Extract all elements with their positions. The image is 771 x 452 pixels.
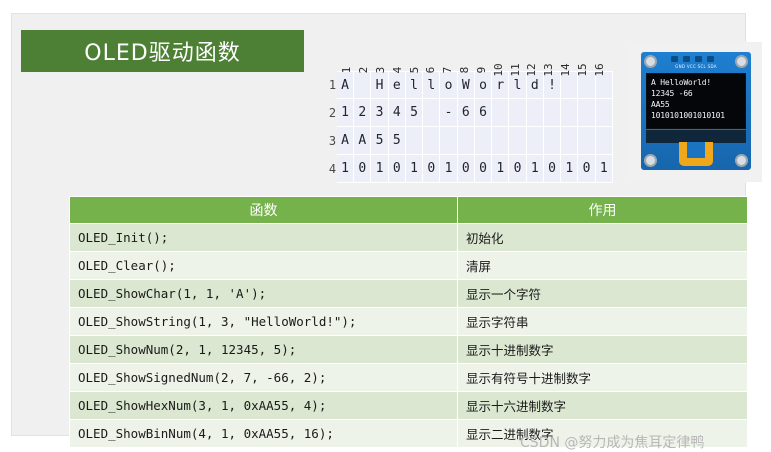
grid-cell [475,127,492,155]
grid-column-header-label: 6 [425,67,436,74]
grid-cell: 6 [475,99,492,127]
grid-cell [440,127,457,155]
grid-cell [596,127,613,155]
table-row: OLED_ShowChar(1, 1, 'A');显示一个字符 [70,280,748,308]
grid-cell: 1 [527,155,544,183]
grid-cell: l [406,71,423,99]
grid-cell [527,99,544,127]
grid-column-header-label: 12 [526,63,537,76]
page-title: OLED驱动函数 [84,35,240,67]
oled-screen-line: 1010101001010101 [651,110,741,121]
grid-cell: 2 [354,99,371,127]
grid-cell: 5 [371,127,388,155]
oled-screen: A HelloWorld! 12345 -66 AA55 10101010010… [646,73,746,129]
grid-cell: A [354,127,371,155]
grid-row: 3AA55 [328,127,613,155]
grid-cell: 0 [458,155,475,183]
grid-cell: 3 [371,99,388,127]
grid-cell: 0 [354,155,371,183]
smd-component-icon [671,56,678,62]
grid-cell: 1 [337,99,354,127]
table-row: OLED_Init();初始化 [70,224,748,252]
grid-cell: o [440,71,457,99]
grid-cell [509,99,526,127]
grid-column-header-label: 5 [409,67,420,74]
grid-column-header-label: 7 [442,67,453,74]
mounting-hole-icon [735,55,748,68]
grid-cell [423,99,440,127]
grid-cell: 5 [389,127,406,155]
grid-cell: 0 [423,155,440,183]
grid-row-header: 2 [328,99,337,127]
grid-cell: o [475,71,492,99]
grid-cell [509,127,526,155]
cell-function-effect: 清屏 [458,252,748,280]
grid-cell: 0 [578,155,595,183]
cell-function-signature: OLED_Init(); [70,224,458,252]
cell-function-signature: OLED_ShowString(1, 3, "HelloWorld!"); [70,308,458,336]
grid-cell: 1 [337,155,354,183]
cell-function-effect: 显示十进制数字 [458,336,748,364]
grid-column-headers: 12345678910111213141516 [344,38,613,71]
cell-function-effect: 显示一个字符 [458,280,748,308]
grid-column-header-label: 13 [543,63,554,76]
table-row: OLED_ShowHexNum(3, 1, 0xAA55, 4);显示十六进制数… [70,392,748,420]
grid-column-header-label: 16 [594,63,605,76]
csdn-watermark: CSDN @努力成为焦耳定律鸭 [520,432,704,452]
grid-cell [544,99,561,127]
grid-cell: A [337,127,354,155]
grid-cell: 6 [458,99,475,127]
grid-cell: 0 [509,155,526,183]
grid-cell [406,127,423,155]
smd-component-icon [707,56,714,62]
cell-function-effect: 显示字符串 [458,308,748,336]
grid-cell: 1 [596,155,613,183]
grid-cell: 1 [561,155,578,183]
grid-cell [561,99,578,127]
table-row: OLED_Clear();清屏 [70,252,748,280]
grid-column-header-label: 3 [375,67,386,74]
grid-row-header: 1 [328,71,337,99]
table-header-row: 函数 作用 [70,197,748,224]
cell-function-signature: OLED_ShowNum(2, 1, 12345, 5); [70,336,458,364]
mounting-hole-icon [735,154,748,167]
cell-function-signature: OLED_ShowBinNum(4, 1, 0xAA55, 16); [70,420,458,448]
oled-screen-line: 12345 -66 [651,88,741,99]
column-header-function: 函数 [70,197,458,224]
grid-cell [578,99,595,127]
table-row: OLED_ShowString(1, 3, "HelloWorld!");显示字… [70,308,748,336]
character-position-grid: 12345678910111213141516 1AHelloWorld!212… [328,38,613,183]
grid-cell [578,127,595,155]
slide-title-banner: OLED驱动函数 [21,30,304,72]
grid-column-header: 16 [596,38,613,71]
mounting-hole-icon [644,154,657,167]
grid-cell: 0 [544,155,561,183]
grid-cell [544,127,561,155]
grid-cell: l [423,71,440,99]
grid-cell: A [337,71,354,99]
cell-function-effect: 显示有符号十进制数字 [458,364,748,392]
slide-canvas: OLED驱动函数 12345678910111213141516 1AHello… [12,14,745,435]
grid-column-header-label: 11 [510,63,521,76]
grid-cell [423,127,440,155]
cell-function-signature: OLED_Clear(); [70,252,458,280]
cell-function-signature: OLED_ShowChar(1, 1, 'A'); [70,280,458,308]
oled-function-table: 函数 作用 OLED_Init();初始化OLED_Clear();清屏OLED… [69,196,748,448]
grid-column-header-label: 4 [392,67,403,74]
grid-cell [596,99,613,127]
grid-cell: 0 [389,155,406,183]
grid-cell: 4 [389,99,406,127]
grid-cell [458,127,475,155]
grid-cell: - [440,99,457,127]
grid-row: 212345-66 [328,99,613,127]
cell-function-effect: 初始化 [458,224,748,252]
grid-cell [527,127,544,155]
grid-column-header-label: 15 [577,63,588,76]
grid-cell: H [371,71,388,99]
mounting-hole-icon [644,55,657,68]
table-row: OLED_ShowSignedNum(2, 7, -66, 2);显示有符号十进… [70,364,748,392]
pcb-board: GND VCC SCL SDA A HelloWorld! 12345 -66 … [641,52,751,170]
grid-cell [492,99,509,127]
grid-column-header-label: 1 [341,67,352,74]
grid-cell: 1 [406,155,423,183]
table-body: OLED_Init();初始化OLED_Clear();清屏OLED_ShowC… [70,224,748,448]
column-header-effect: 作用 [458,197,748,224]
grid-row-header: 4 [328,155,337,183]
grid-body: 1AHelloWorld!212345-663AA554101010100101… [328,71,613,183]
grid-column-header-label: 9 [476,67,487,74]
smd-component-icon [695,56,702,62]
grid-cell [492,127,509,155]
grid-column-header-label: 14 [560,63,571,76]
smd-component-icon [683,56,690,62]
grid-cell: 0 [475,155,492,183]
grid-cell [354,71,371,99]
grid-cell: 5 [406,99,423,127]
grid-cell: 1 [492,155,509,183]
cell-function-effect: 显示十六进制数字 [458,392,748,420]
table-row: OLED_ShowNum(2, 1, 12345, 5);显示十进制数字 [70,336,748,364]
cell-function-signature: OLED_ShowSignedNum(2, 7, -66, 2); [70,364,458,392]
grid-cell: W [458,71,475,99]
grid-column-header-label: 2 [358,67,369,74]
oled-screen-line: A HelloWorld! [651,77,741,88]
grid-column-header-label: 8 [459,67,470,74]
grid-cell [561,127,578,155]
ribbon-cable-inner [687,142,705,158]
grid-cell: 1 [440,155,457,183]
grid-row: 41010101001010101 [328,155,613,183]
oled-module-photo: GND VCC SCL SDA A HelloWorld! 12345 -66 … [630,42,762,182]
pcb-pin-labels: GND VCC SCL SDA [663,64,729,69]
grid-row-header: 3 [328,127,337,155]
grid-column-header-label: 10 [493,63,504,76]
grid-cell: e [389,71,406,99]
grid-cell: 1 [371,155,388,183]
cell-function-signature: OLED_ShowHexNum(3, 1, 0xAA55, 4); [70,392,458,420]
oled-screen-line: AA55 [651,99,741,110]
